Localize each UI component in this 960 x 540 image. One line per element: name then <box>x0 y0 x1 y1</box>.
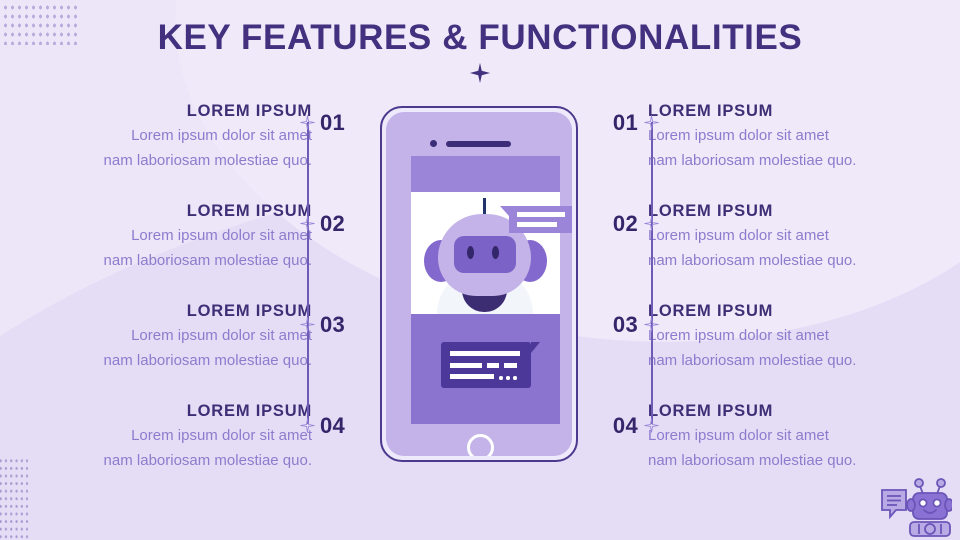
feature-body-line-2: nam laboriosam molestiae quo. <box>648 450 938 472</box>
bubble-tail <box>500 206 509 216</box>
feature-number: 02 <box>320 213 360 235</box>
incoming-chat-bubble-icon <box>509 206 572 233</box>
sparkle-marker-icon <box>299 215 316 232</box>
feature-body-line-2: nam laboriosam molestiae quo. <box>22 150 312 172</box>
feature-number: 02 <box>598 213 638 235</box>
sparkle-marker-icon <box>299 417 316 434</box>
sparkle-marker-icon <box>643 316 660 333</box>
feature-body-line-2: nam laboriosam molestiae quo. <box>22 450 312 472</box>
feature-number: 03 <box>320 314 360 336</box>
bubble-text-line <box>450 363 482 368</box>
bubble-text-line <box>450 351 520 356</box>
home-button-icon[interactable] <box>467 434 494 456</box>
page-title: KEY FEATURES & FUNCTIONALITIES <box>0 16 960 60</box>
list-item[interactable]: LOREM IPSUM Lorem ipsum dolor sit amet n… <box>648 200 938 300</box>
feature-heading: LOREM IPSUM <box>648 300 938 322</box>
right-feature-column: LOREM IPSUM Lorem ipsum dolor sit amet n… <box>648 100 938 500</box>
feature-body-line-1: Lorem ipsum dolor sit amet <box>22 125 312 147</box>
robot-chat-icon <box>880 476 952 538</box>
feature-heading: LOREM IPSUM <box>22 100 312 122</box>
sparkle-marker-icon <box>643 417 660 434</box>
feature-heading: LOREM IPSUM <box>648 400 938 422</box>
bubble-text-line <box>517 222 557 227</box>
phone-body <box>386 112 572 456</box>
list-item[interactable]: LOREM IPSUM Lorem ipsum dolor sit amet n… <box>22 300 312 400</box>
feature-number: 04 <box>320 415 360 437</box>
feature-heading: LOREM IPSUM <box>22 200 312 222</box>
bubble-text-line <box>517 212 565 217</box>
robot-antenna-icon <box>483 198 486 215</box>
smartphone-illustration <box>380 106 578 462</box>
sparkle-marker-icon <box>299 316 316 333</box>
sparkle-marker-icon <box>643 114 660 131</box>
speaker-bar-icon <box>446 141 511 147</box>
list-item[interactable]: LOREM IPSUM Lorem ipsum dolor sit amet n… <box>22 100 312 200</box>
typing-dot-icon <box>499 376 503 380</box>
feature-number: 01 <box>598 112 638 134</box>
feature-body-line-1: Lorem ipsum dolor sit amet <box>648 425 938 447</box>
feature-number: 03 <box>598 314 638 336</box>
typing-dot-icon <box>513 376 517 380</box>
feature-body-line-2: nam laboriosam molestiae quo. <box>22 350 312 372</box>
feature-heading: LOREM IPSUM <box>22 300 312 322</box>
robot-eye-right-icon <box>492 246 499 259</box>
robot-faceplate-icon <box>454 236 516 273</box>
feature-body-line-1: Lorem ipsum dolor sit amet <box>648 225 938 247</box>
sparkle-icon <box>469 62 491 84</box>
slide-canvas: KEY FEATURES & FUNCTIONALITIES LOREM IPS… <box>0 0 960 540</box>
feature-body-line-1: Lorem ipsum dolor sit amet <box>22 425 312 447</box>
feature-heading: LOREM IPSUM <box>22 400 312 422</box>
feature-heading: LOREM IPSUM <box>648 100 938 122</box>
title-block: KEY FEATURES & FUNCTIONALITIES <box>0 16 960 84</box>
feature-body-line-2: nam laboriosam molestiae quo. <box>648 250 938 272</box>
feature-body-line-2: nam laboriosam molestiae quo. <box>22 250 312 272</box>
bubble-text-line <box>504 363 517 368</box>
list-item[interactable]: LOREM IPSUM Lorem ipsum dolor sit amet n… <box>22 400 312 500</box>
feature-body-line-2: nam laboriosam molestiae quo. <box>648 350 938 372</box>
feature-heading: LOREM IPSUM <box>648 200 938 222</box>
feature-number: 01 <box>320 112 360 134</box>
feature-body-line-2: nam laboriosam molestiae quo. <box>648 150 938 172</box>
left-feature-column: LOREM IPSUM Lorem ipsum dolor sit amet n… <box>22 100 312 500</box>
robot-eye-left-icon <box>467 246 474 259</box>
list-item[interactable]: LOREM IPSUM Lorem ipsum dolor sit amet n… <box>22 200 312 300</box>
typing-dot-icon <box>506 376 510 380</box>
right-timeline-rail <box>651 122 653 424</box>
sparkle-marker-icon <box>643 215 660 232</box>
left-timeline-rail <box>307 122 309 424</box>
list-item[interactable]: LOREM IPSUM Lorem ipsum dolor sit amet n… <box>648 300 938 400</box>
outgoing-chat-bubble-icon <box>441 342 531 388</box>
sparkle-marker-icon <box>299 114 316 131</box>
feature-body-line-1: Lorem ipsum dolor sit amet <box>22 225 312 247</box>
list-item[interactable]: LOREM IPSUM Lorem ipsum dolor sit amet n… <box>648 100 938 200</box>
bubble-text-line <box>487 363 499 368</box>
bubble-tail <box>531 342 540 353</box>
app-screen-area <box>411 192 560 314</box>
bubble-text-line <box>450 374 494 379</box>
camera-dot-icon <box>430 140 437 147</box>
feature-number: 04 <box>598 415 638 437</box>
feature-body-line-1: Lorem ipsum dolor sit amet <box>648 325 938 347</box>
app-header-bar <box>411 156 560 192</box>
feature-body-line-1: Lorem ipsum dolor sit amet <box>648 125 938 147</box>
feature-body-line-1: Lorem ipsum dolor sit amet <box>22 325 312 347</box>
